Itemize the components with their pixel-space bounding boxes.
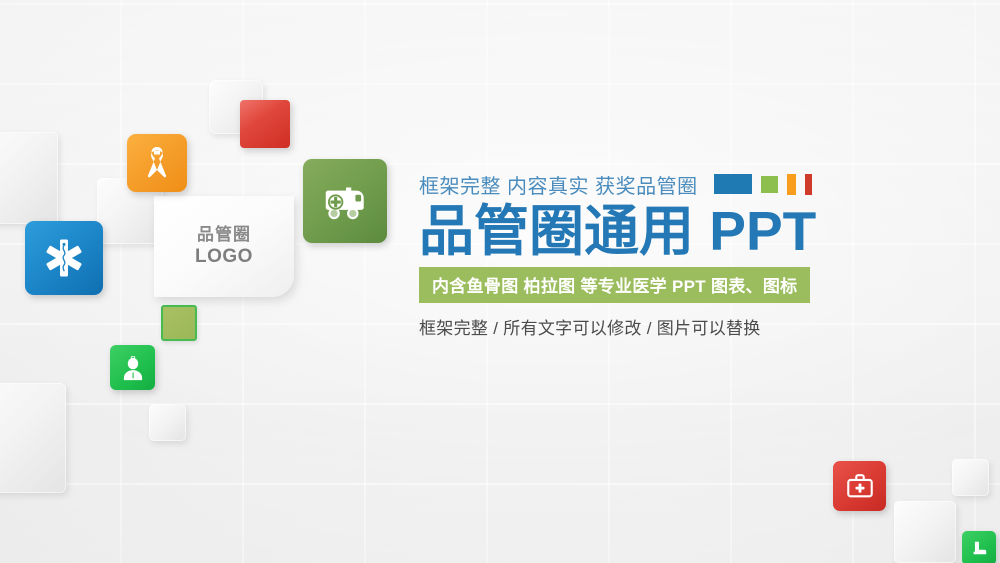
first-aid-kit-icon-tile[interactable] [833,461,886,511]
star-of-life-icon [42,236,86,280]
kicker-row: 框架完整 内容真实 获奖品管圈 [419,170,919,198]
logo-card: 品管圈 LOGO [154,196,294,297]
ambulance-icon-tile[interactable] [303,159,387,243]
decorative-olive-square [161,305,197,341]
footnote-text: 框架完整 / 所有文字可以修改 / 图片可以替换 [419,314,919,339]
presentation-slide: 品管圈 LOGO [0,0,1000,563]
medical-boot-icon [970,539,988,557]
logo-card-line1: 品管圈 [197,224,251,245]
feature-banner: 内含鱼骨图 柏拉图 等专业医学 PPT 图表、图标 [419,267,810,303]
decorative-square [0,132,58,224]
swatch-green [761,176,778,193]
decorative-square [0,383,66,493]
decorative-red-square [240,100,290,148]
logo-card-line2: LOGO [195,245,253,269]
decorative-square [149,404,186,441]
title-text-block: 框架完整 内容真实 获奖品管圈 品管圈通用 PPT 内含鱼骨图 柏拉图 等专业医… [419,170,919,339]
swatch-orange [787,174,796,195]
swatch-group [714,174,812,195]
awareness-ribbon-icon [141,145,173,181]
page-title: 品管圈通用 PPT [419,202,919,260]
first-aid-kit-icon [845,472,875,500]
decorative-square [952,459,989,496]
kicker-text: 框架完整 内容真实 获奖品管圈 [419,170,698,199]
swatch-red [805,174,812,195]
nurse-person-icon [120,355,146,381]
feature-banner-label: 内含鱼骨图 柏拉图 等专业医学 PPT 图表、图标 [432,277,797,296]
boot-icon-tile[interactable] [962,531,996,563]
ribbon-icon-tile[interactable] [127,134,187,192]
decorative-square [894,501,956,563]
swatch-blue [714,174,752,194]
nurse-icon-tile[interactable] [110,345,155,390]
ambulance-icon [319,179,371,223]
star-of-life-icon-tile[interactable] [25,221,103,295]
